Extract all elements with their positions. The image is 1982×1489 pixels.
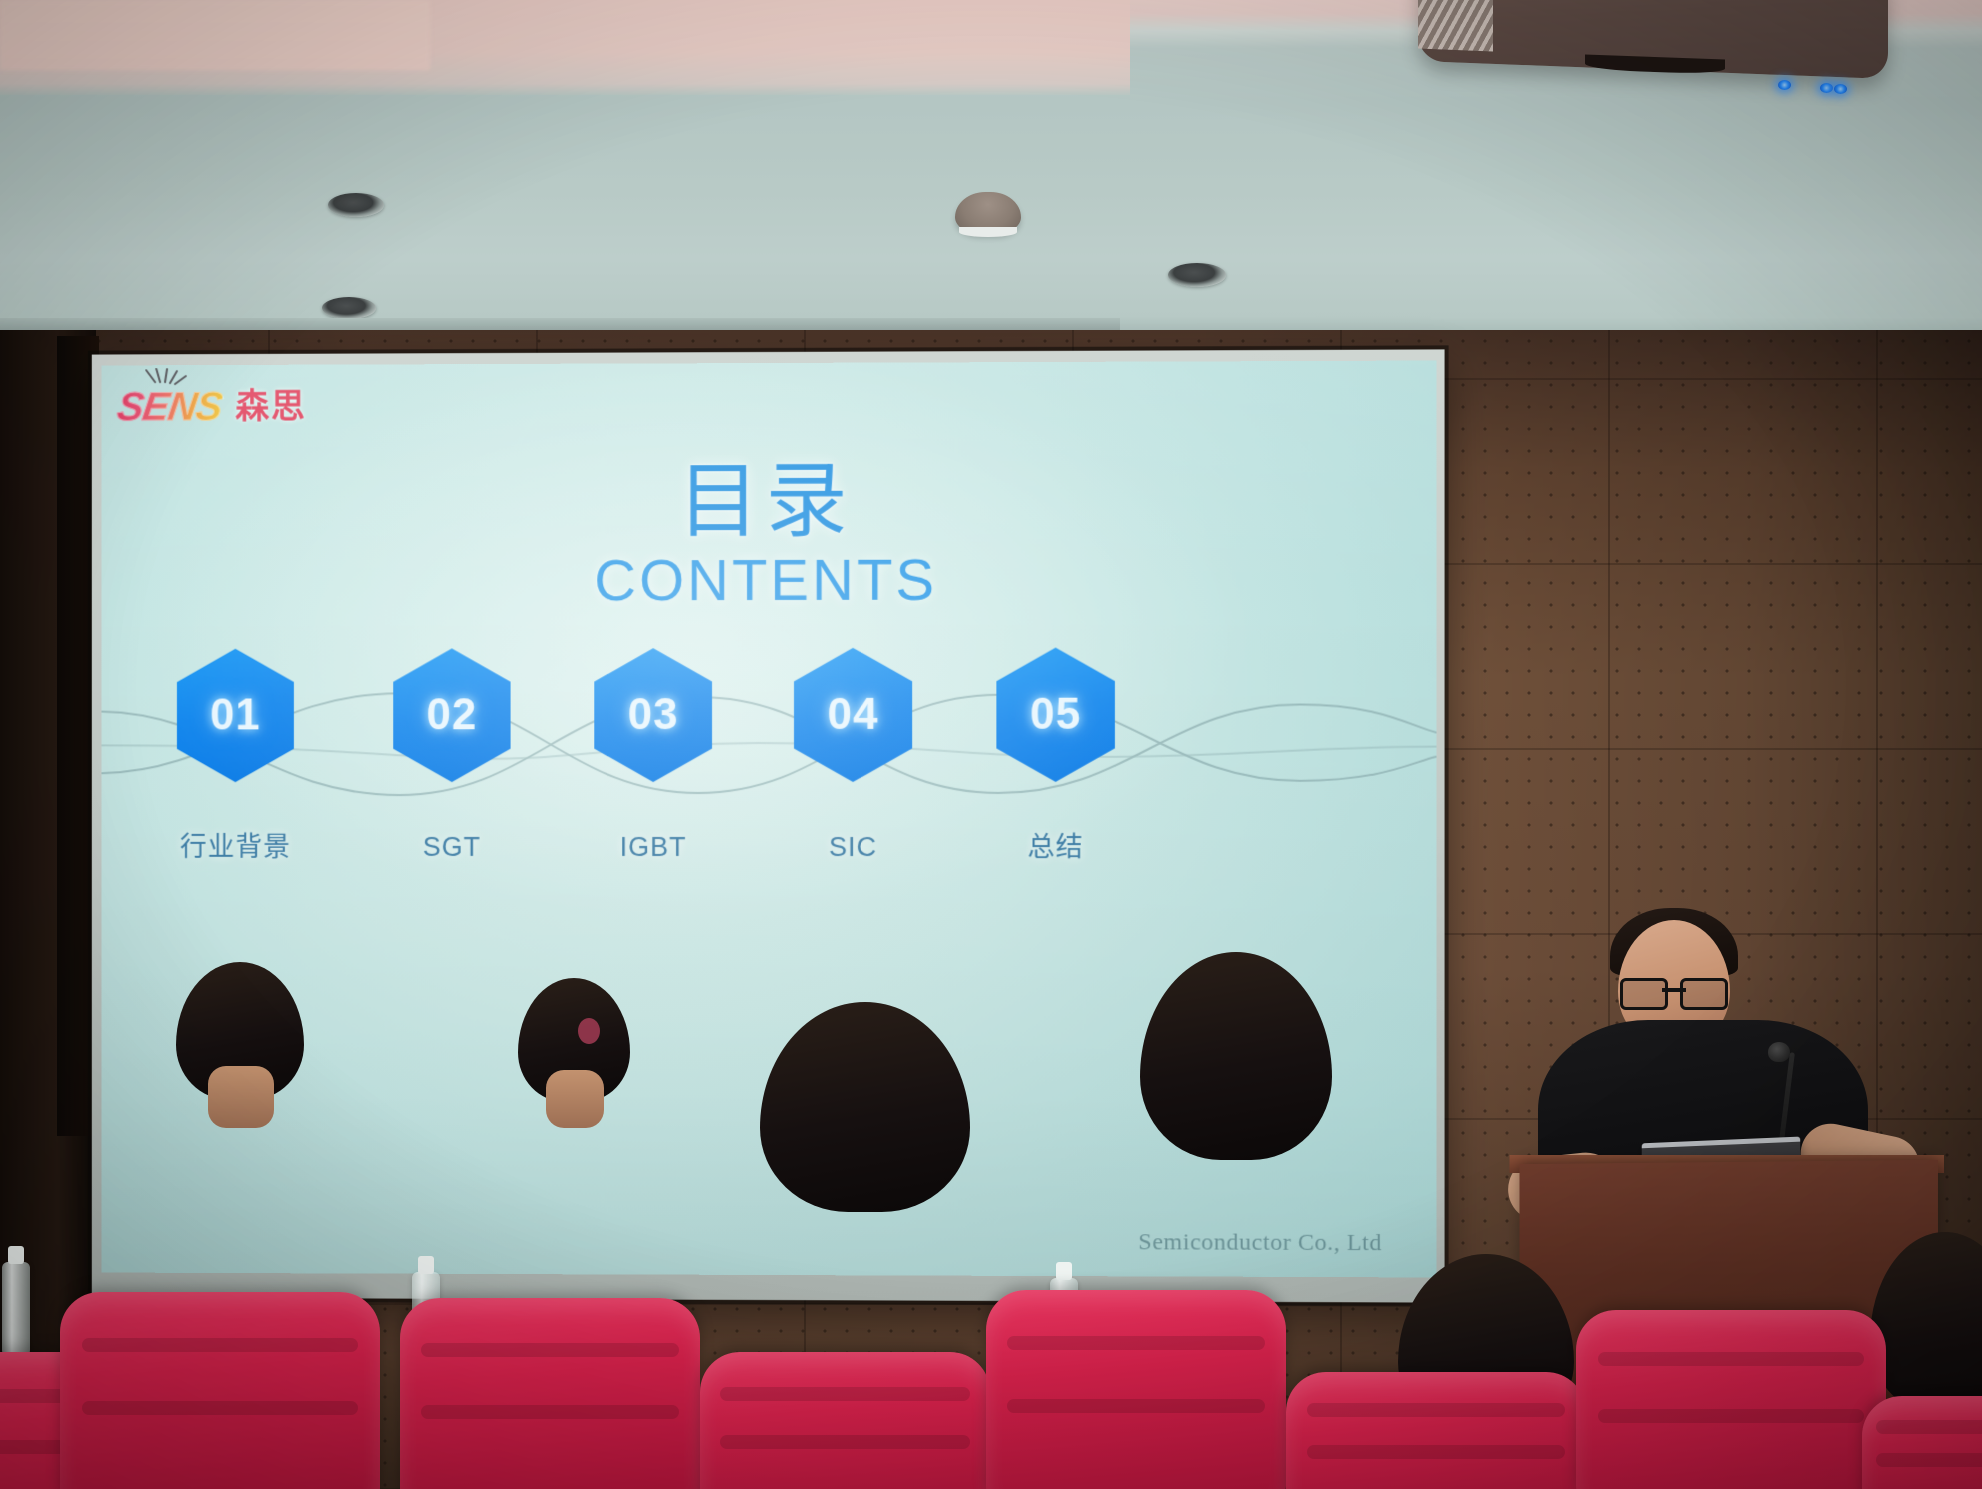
recessed-downlight bbox=[328, 193, 384, 217]
slide-footer-text: Semiconductor Co., Ltd bbox=[1138, 1230, 1382, 1255]
page-title-cn: 目录 bbox=[102, 457, 1437, 546]
microphone-capsule bbox=[1768, 1042, 1790, 1062]
projector-vent-grille bbox=[1418, 0, 1493, 51]
slide-heading: 目录 CONTENTS bbox=[102, 457, 1437, 611]
projector-status-led bbox=[1834, 84, 1847, 94]
contents-item-label: SGT bbox=[357, 834, 546, 861]
hexagon-number: 01 bbox=[210, 694, 261, 738]
contents-item-04[interactable]: 04 SIC bbox=[758, 648, 948, 861]
logo-wordmark: SENS bbox=[115, 387, 224, 427]
projector-status-led bbox=[1778, 80, 1791, 90]
hexagon-number: 05 bbox=[1030, 693, 1081, 737]
audience-neck bbox=[546, 1070, 604, 1128]
auditorium-seat bbox=[1862, 1396, 1982, 1489]
glasses-icon bbox=[1620, 978, 1728, 1004]
hair-tie-accent bbox=[578, 1018, 600, 1044]
hexagon-badge[interactable]: 01 bbox=[177, 649, 294, 783]
contents-item-03[interactable]: 03 IGBT bbox=[558, 648, 748, 861]
audience-neck bbox=[208, 1066, 274, 1128]
auditorium-seat bbox=[400, 1298, 700, 1489]
smoke-detector-icon bbox=[955, 192, 1021, 234]
hexagon-badge[interactable]: 05 bbox=[996, 648, 1115, 782]
contents-item-label: 行业背景 bbox=[141, 834, 329, 861]
page-title-en: CONTENTS bbox=[102, 551, 1437, 612]
contents-item-05[interactable]: 05 总结 bbox=[960, 647, 1151, 861]
logo-chinese-name: 森思 bbox=[235, 390, 306, 424]
auditorium-seat bbox=[60, 1292, 380, 1489]
water-bottle bbox=[2, 1262, 30, 1358]
hexagon-badge[interactable]: 02 bbox=[393, 648, 510, 782]
hexagon-badge[interactable]: 03 bbox=[594, 648, 712, 782]
contents-item-label: IGBT bbox=[558, 834, 748, 861]
contents-item-02[interactable]: 02 SGT bbox=[357, 648, 546, 861]
contents-hexagon-row: 01 行业背景 02 SGT 03 IGBT 04 SIC bbox=[102, 647, 1437, 979]
hexagon-number: 04 bbox=[828, 693, 879, 737]
auditorium-seat bbox=[700, 1352, 990, 1489]
contents-item-label: SIC bbox=[758, 834, 948, 861]
ceiling-pink-highlight bbox=[0, 0, 430, 70]
hexagon-number: 03 bbox=[628, 693, 679, 737]
projector-status-led bbox=[1820, 83, 1833, 93]
hexagon-number: 02 bbox=[427, 693, 478, 737]
recessed-downlight bbox=[322, 297, 376, 319]
recessed-downlight bbox=[1168, 263, 1226, 287]
contents-item-label: 总结 bbox=[960, 834, 1151, 861]
auditorium-seat bbox=[1576, 1310, 1886, 1489]
contents-item-01[interactable]: 01 行业背景 bbox=[141, 649, 329, 861]
hexagon-badge[interactable]: 04 bbox=[794, 648, 912, 782]
slide-logo: SENS 森思 bbox=[118, 387, 307, 427]
screenshot-root: SENS 森思 目录 CONTENTS 01 行业背景 bbox=[0, 0, 1982, 1489]
auditorium-seat bbox=[986, 1290, 1286, 1489]
auditorium-seat bbox=[1286, 1372, 1586, 1489]
